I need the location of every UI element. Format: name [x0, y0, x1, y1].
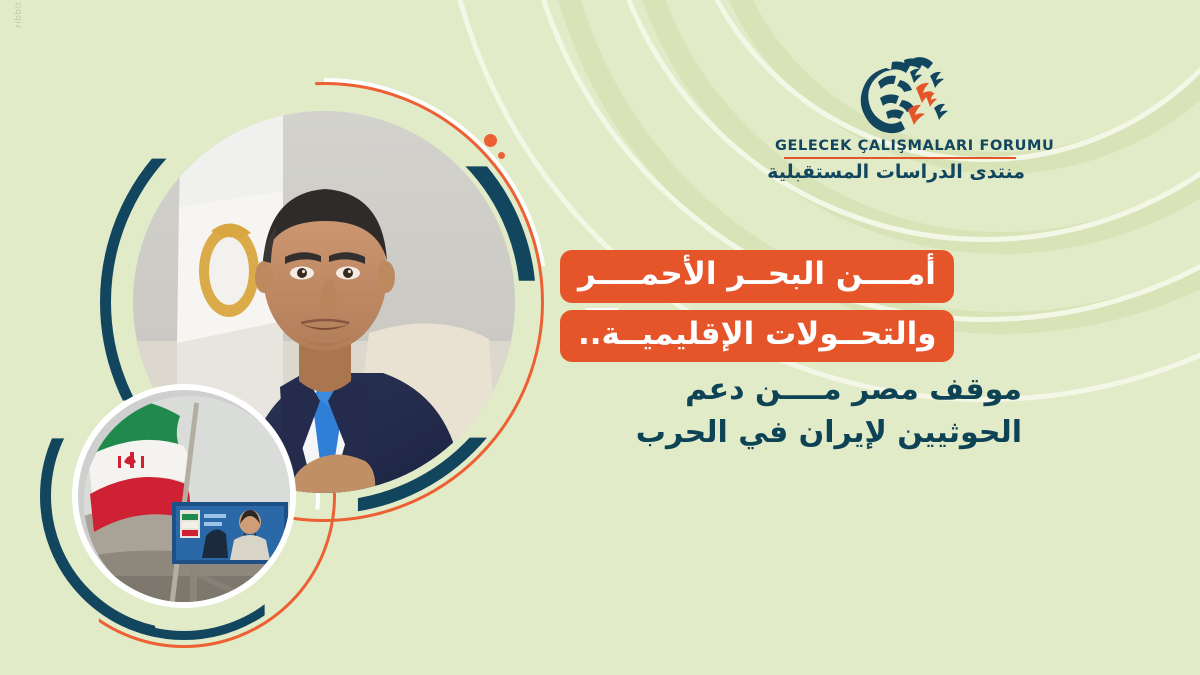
logo-divider [784, 157, 1016, 159]
logo-title-arabic: منتدى الدراسات المستقبلية [775, 161, 1025, 183]
poster-canvas: ribbit spazy [0, 0, 1200, 675]
headline-line-1: موقف مصر مــــن دعم [560, 369, 1030, 412]
brain-globe-with-birds-emblem [775, 52, 1025, 134]
headline-chip-1: أمــــن البحــر الأحمــــر [560, 250, 954, 303]
headline-chip-row-1: أمــــن البحــر الأحمــــر [560, 250, 1030, 310]
forum-logo: GELECEK ÇALIŞMALARI FORUMU منتدى الدراسا… [775, 52, 1025, 183]
logo-title-turkish: GELECEK ÇALIŞMALARI FORUMU [775, 138, 1025, 154]
headline-chip-2: والتحــولات الإقليميــة.. [560, 310, 954, 363]
iranian-flag-with-houthi-billboard [72, 384, 296, 608]
headline-chip-row-2: والتحــولات الإقليميــة.. [560, 310, 1030, 370]
headline-line-2: الحوثيين لإيران في الحرب [560, 412, 1030, 455]
accent-dot-1 [484, 134, 497, 147]
corner-watermark: ribbit spazy [14, 0, 24, 28]
accent-dot-2 [498, 152, 505, 159]
headline-block: أمــــن البحــر الأحمــــر والتحــولات ا… [560, 250, 1030, 455]
